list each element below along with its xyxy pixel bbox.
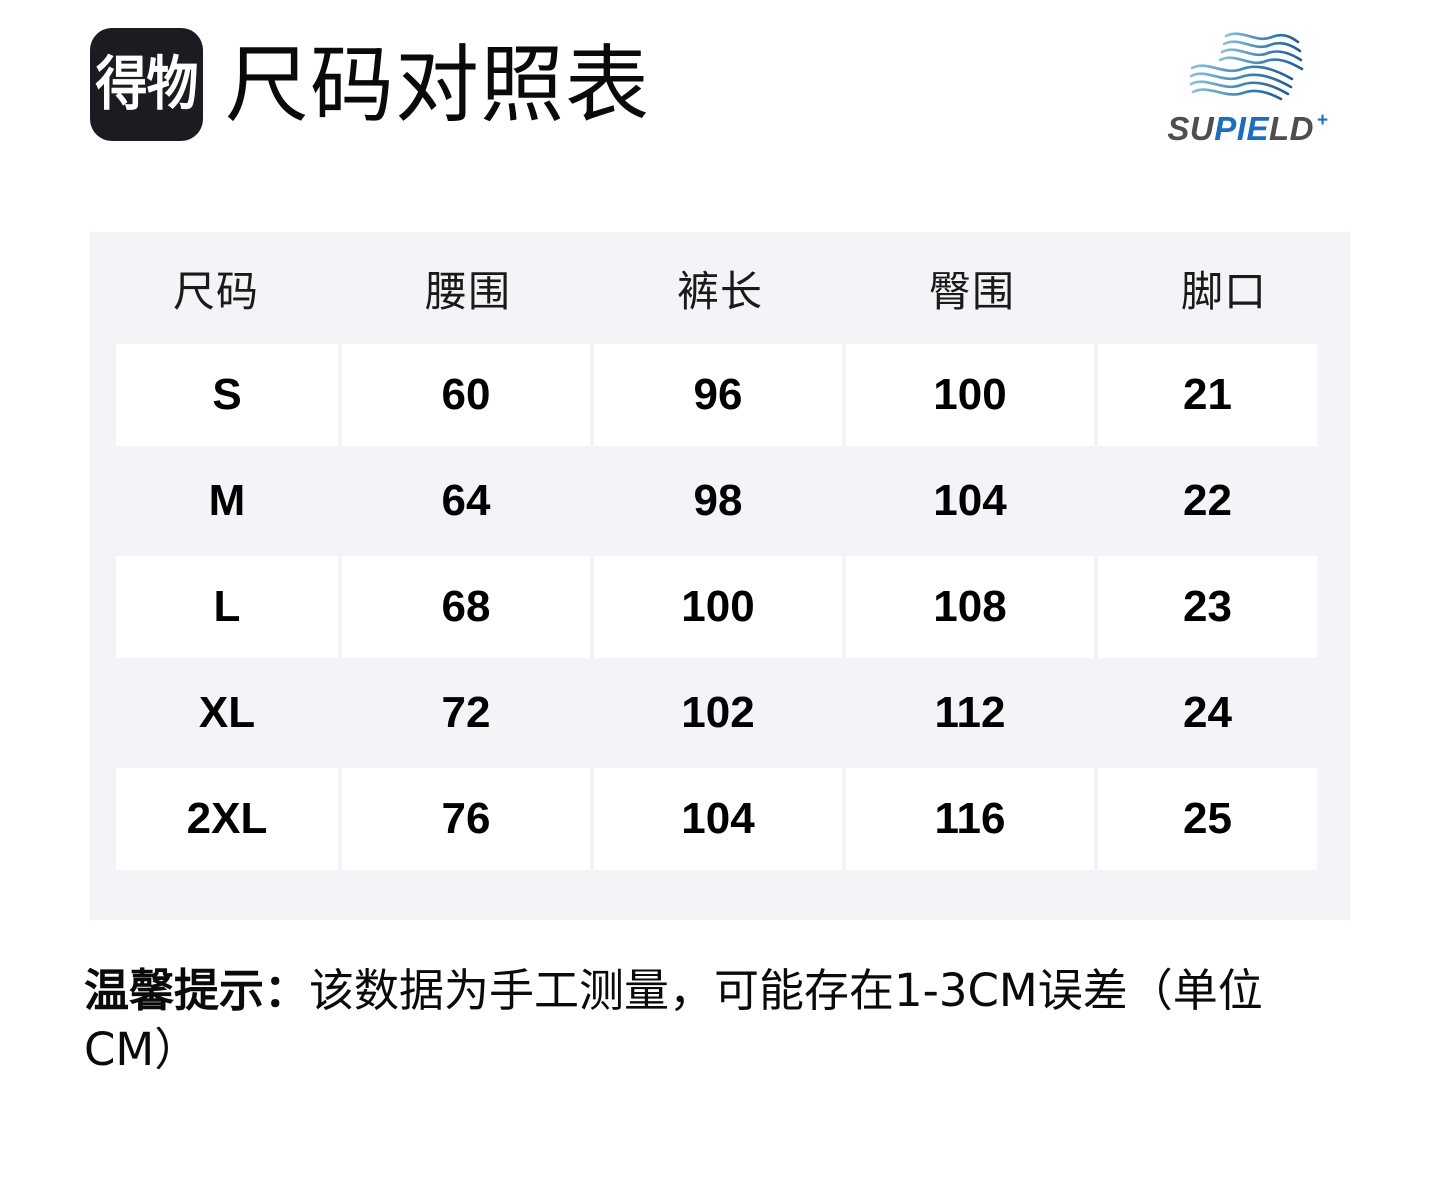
cell-leg-opening: 25 (1098, 768, 1350, 874)
cell-size: 2XL (90, 768, 342, 874)
cell-size: M (90, 450, 342, 556)
dewu-logo-text: 得物 (95, 55, 197, 113)
supield-wordmark: SUPIELD+ (1148, 110, 1348, 148)
cell-hip: 108 (846, 556, 1098, 662)
size-chart-page: 得物 尺码对照表 (0, 0, 1440, 1197)
supield-word-part1: SU (1167, 110, 1214, 147)
column-header-hip: 臀围 (846, 232, 1098, 344)
cell-length: 104 (594, 768, 846, 874)
supield-wave-icon (1182, 24, 1314, 108)
column-header-leg-opening: 脚口 (1098, 232, 1350, 344)
dewu-logo: 得物 (90, 28, 203, 141)
cell-waist: 76 (342, 768, 594, 874)
cell-waist: 64 (342, 450, 594, 556)
column-header-size: 尺码 (90, 232, 342, 344)
size-table: 尺码 腰围 裤长 臀围 脚口 S 60 96 100 21 M 64 (90, 232, 1350, 874)
cell-hip: 116 (846, 768, 1098, 874)
cell-length: 98 (594, 450, 846, 556)
cell-waist: 60 (342, 344, 594, 450)
page-header: 得物 尺码对照表 (0, 0, 1440, 180)
cell-length: 100 (594, 556, 846, 662)
title-block: 得物 尺码对照表 (90, 28, 650, 141)
size-table-container: 尺码 腰围 裤长 臀围 脚口 S 60 96 100 21 M 64 (90, 232, 1350, 920)
cell-hip: 112 (846, 662, 1098, 768)
table-row: L 68 100 108 23 (90, 556, 1350, 662)
measurement-note: 温馨提示：该数据为手工测量，可能存在1-3CM误差（单位CM） (84, 962, 1346, 1079)
table-header-row: 尺码 腰围 裤长 臀围 脚口 (90, 232, 1350, 344)
table-row: S 60 96 100 21 (90, 344, 1350, 450)
cell-leg-opening: 24 (1098, 662, 1350, 768)
cell-leg-opening: 23 (1098, 556, 1350, 662)
column-header-waist: 腰围 (342, 232, 594, 344)
cell-leg-opening: 22 (1098, 450, 1350, 556)
cell-waist: 68 (342, 556, 594, 662)
cell-waist: 72 (342, 662, 594, 768)
supield-word-part2: PIE (1214, 110, 1269, 147)
table-row: 2XL 76 104 116 25 (90, 768, 1350, 874)
cell-leg-opening: 21 (1098, 344, 1350, 450)
cell-size: XL (90, 662, 342, 768)
table-row: M 64 98 104 22 (90, 450, 1350, 556)
table-bottom-padding (90, 874, 1350, 920)
supield-word-part3: LD (1269, 110, 1314, 147)
cell-length: 96 (594, 344, 846, 450)
table-row: XL 72 102 112 24 (90, 662, 1350, 768)
supield-brand-logo: SUPIELD+ (1148, 24, 1348, 148)
cell-hip: 100 (846, 344, 1098, 450)
cell-size: S (90, 344, 342, 450)
cell-length: 102 (594, 662, 846, 768)
size-table-header: 尺码 腰围 裤长 臀围 脚口 (90, 232, 1350, 344)
column-header-length: 裤长 (594, 232, 846, 344)
note-label: 温馨提示： (84, 964, 309, 1017)
supield-plus-superscript: + (1317, 110, 1329, 131)
size-table-body: S 60 96 100 21 M 64 98 104 22 L 68 100 (90, 344, 1350, 874)
page-title: 尺码对照表 (225, 43, 650, 127)
cell-size: L (90, 556, 342, 662)
cell-hip: 104 (846, 450, 1098, 556)
